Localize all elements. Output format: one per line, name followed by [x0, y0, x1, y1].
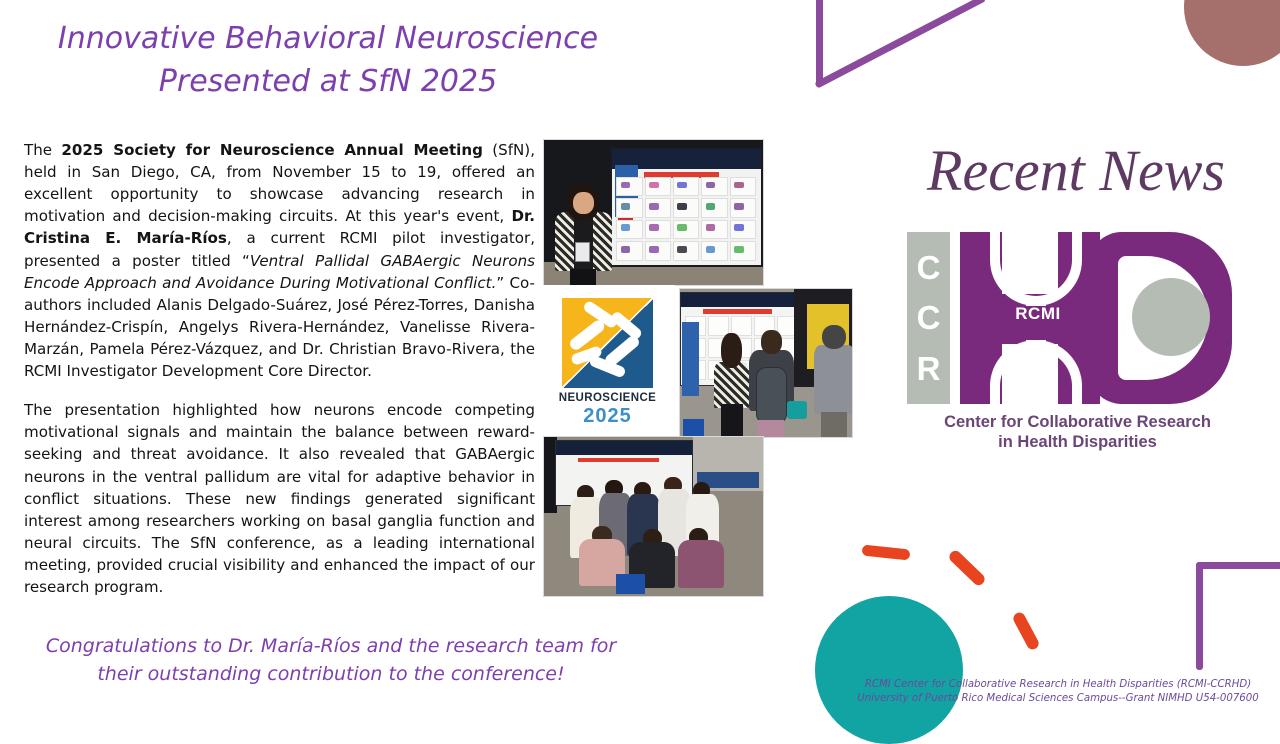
sfn-logo-canvas: NEUROSCIENCE 2025 — [540, 285, 675, 430]
poster-figure-cell — [701, 241, 727, 260]
poster-figure-cell — [701, 177, 727, 196]
logo-h-glyph: RCMI — [960, 232, 1100, 404]
poster-figure-cell — [730, 198, 756, 217]
poster-figure-cell — [730, 177, 756, 196]
footer-line-2: University of Puerto Rico Medical Scienc… — [840, 692, 1276, 706]
logo-d-glyph — [1088, 232, 1232, 404]
person-head — [721, 333, 742, 367]
rcmi-ccrhd-logo: C C R RCMI — [905, 228, 1235, 408]
scientific-poster-board — [610, 147, 763, 267]
poster-figure-cell — [730, 241, 756, 260]
poster-figure-cell — [645, 198, 671, 217]
blue-conference-bag — [683, 419, 704, 437]
poster-figure-cell — [616, 177, 642, 196]
person-coat — [814, 345, 853, 415]
sfn-logo-square — [562, 298, 654, 388]
person-head — [761, 330, 782, 353]
poster-figure-cell — [616, 220, 642, 239]
poster-presenter-scene — [544, 140, 763, 285]
poster-figure-cell — [701, 220, 727, 239]
discussion-person-attendee — [814, 325, 853, 437]
p1-text-1: The — [24, 141, 61, 159]
poster-figure-cell — [730, 220, 756, 239]
d-grey-circle — [1132, 278, 1210, 356]
poster-figure-cell — [673, 177, 699, 196]
sfn-logo-wordmark: NEUROSCIENCE — [540, 392, 675, 404]
mauve-circle-decoration — [1184, 0, 1280, 66]
top-right-angle-decoration — [806, 0, 1026, 100]
poster-figure-cell — [616, 198, 642, 217]
orange-dash-decoration-3 — [1011, 611, 1040, 652]
group-member-body — [678, 540, 724, 588]
page-title-line-1: Innovative Behavioral Neuroscience — [28, 18, 628, 61]
sfn-neuron-shape — [568, 317, 607, 351]
poster-presenter-photo — [543, 139, 764, 286]
presenter-figure — [555, 184, 612, 286]
group-poster-header — [556, 441, 692, 455]
poster-discussion-scene — [680, 289, 852, 437]
poster-figure-cell — [701, 198, 727, 217]
tagline-line-2: in Health Disparities — [890, 432, 1265, 452]
poster-figure-cell — [673, 220, 699, 239]
section-heading-recent-news: Recent News — [880, 142, 1272, 200]
presenter-lower-body — [570, 269, 596, 286]
poster-figure-cell — [645, 177, 671, 196]
photo-collage: NEUROSCIENCE 2025 — [530, 130, 870, 610]
angle-vertical-leg — [816, 0, 823, 86]
discussion-person-with-backpack — [749, 330, 794, 437]
p1-bold-meeting-name: 2025 Society for Neuroscience Annual Mee… — [61, 141, 482, 159]
d-inner-counter — [1118, 256, 1208, 380]
ccr-letter-2: C — [917, 301, 941, 334]
bracket-vertical-leg — [1196, 562, 1203, 670]
adjacent-blue-poster — [682, 322, 699, 396]
group-poster-red-bar — [578, 458, 659, 462]
article-paragraph-2: The presentation highlighted how neurons… — [24, 399, 535, 598]
discussion-person-presenter — [714, 333, 748, 434]
tagline-line-1: Center for Collaborative Research — [890, 412, 1265, 432]
poster-discussion-photo — [679, 288, 853, 438]
person-head — [822, 325, 846, 350]
discussion-poster-red-bar — [703, 309, 773, 314]
page-title: Innovative Behavioral Neuroscience Prese… — [28, 18, 628, 103]
presenter-face — [573, 192, 593, 214]
footer-line-1: RCMI Center for Collaborative Research i… — [840, 678, 1276, 692]
poster-figure-cell — [616, 241, 642, 260]
bottom-right-bracket-decoration — [1196, 562, 1280, 672]
person-lower-body — [821, 412, 847, 438]
rcmi-logo-tagline: Center for Collaborative Research in Hea… — [890, 412, 1265, 452]
teal-semicircle-decoration — [815, 596, 963, 744]
page-title-line-2: Presented at SfN 2025 — [28, 61, 628, 104]
sfn-2025-logo: NEUROSCIENCE 2025 — [540, 285, 675, 430]
ccr-letter-3: R — [917, 352, 941, 385]
research-team-group-photo — [543, 436, 764, 597]
presenter-conference-badge — [575, 242, 590, 261]
ccr-vertical-bar: C C R — [907, 232, 950, 404]
poster-figure-cell — [645, 241, 671, 260]
blue-conference-bag — [616, 574, 644, 595]
poster-figure-grid — [616, 177, 756, 261]
rcmi-center-label: RCMI — [1006, 304, 1070, 324]
ccr-letter-1: C — [917, 251, 941, 284]
backpack — [756, 367, 788, 424]
discussion-poster-header — [681, 293, 801, 307]
footer-attribution: RCMI Center for Collaborative Research i… — [840, 678, 1276, 707]
group-photo-scene — [544, 437, 763, 596]
bracket-horizontal-leg — [1196, 562, 1280, 569]
angle-diagonal-leg — [814, 0, 986, 89]
orange-dash-decoration-2 — [947, 548, 987, 587]
sfn-logo-year: 2025 — [540, 405, 675, 428]
poster-figure-cell — [673, 198, 699, 217]
poster-figure-cell — [645, 220, 671, 239]
poster-figure-cell — [673, 241, 699, 260]
person-lower-body — [721, 404, 743, 436]
congratulations-message: Congratulations to Dr. María-Ríos and th… — [22, 633, 640, 688]
teal-bag — [787, 401, 808, 419]
article-paragraph-1: The 2025 Society for Neuroscience Annual… — [24, 139, 535, 382]
person-jacket — [714, 362, 748, 408]
article-body: The 2025 Society for Neuroscience Annual… — [24, 139, 535, 598]
